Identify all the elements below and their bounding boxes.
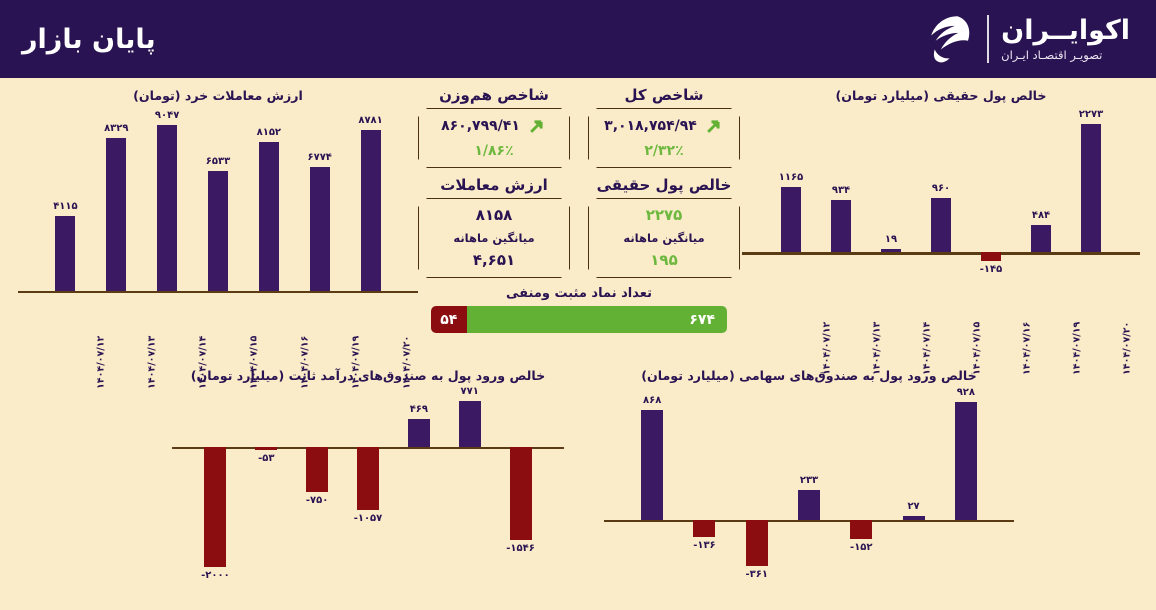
- kpi-value: ۸۱۵۸: [425, 206, 563, 224]
- kpi-heading: شاخص کل: [588, 86, 740, 104]
- chart-bar-value-label: -۱۳۶: [672, 540, 736, 551]
- chart-bar-value-label: ۴۶۹: [387, 404, 451, 415]
- chart-plot-area: ۴۱۱۵۱۴۰۴/۰۷/۱۲۸۳۲۹۱۴۰۴/۰۷/۱۳۹۰۴۷۱۴۰۴/۰۷/…: [18, 117, 418, 291]
- chart-axis-line: [742, 252, 1140, 254]
- chart-x-tick-label: ۱۴۰۴/۰۷/۲۰: [1122, 322, 1133, 375]
- chart-x-tick-label: ۱۴۰۴/۰۷/۱۹: [1072, 322, 1083, 375]
- chart-bar: [259, 142, 279, 291]
- chart-bar-value-label: ۱۹: [859, 234, 923, 245]
- chart-bar-value-label: ۱۱۶۵: [759, 172, 823, 183]
- kpi-average-label: میانگین ماهانه: [425, 231, 563, 245]
- kpi-percent: ۱/۸۶٪: [425, 143, 563, 159]
- chart-bar-value-label: -۱۵۴۶: [489, 543, 553, 554]
- chart-title: ارزش معاملات خرد (تومان): [18, 88, 418, 103]
- chart-bar-value-label: ۴۱۱۵: [33, 201, 97, 212]
- chart-bar: [881, 249, 901, 252]
- chart-net-real-money: خالص پول حقیقی (میلیارد تومان) ۱۱۶۵۱۴۰۴/…: [742, 88, 1140, 316]
- kpi-value: ۲۲۷۵: [595, 206, 733, 224]
- brand-name: اکوایــران: [1001, 16, 1130, 45]
- chart-bar-value-label: -۱۵۲: [829, 542, 893, 553]
- chart-x-tick-label: ۱۴۰۴/۰۷/۱۳: [147, 336, 158, 389]
- chart-bar: [903, 516, 925, 519]
- chart-bar-value-label: ۶۵۳۳: [186, 156, 250, 167]
- chart-title: خالص ورود پول به صندوق‌های سهامی (میلیار…: [604, 368, 1014, 383]
- chart-bar: [255, 447, 277, 450]
- app-header: اکوایــران تصویـر اقتصـاد ایـران پایان ب…: [0, 0, 1156, 78]
- chart-bar-value-label: -۲۰۰۰: [183, 570, 247, 581]
- kpi-box: ۸۱۵۸ میانگین ماهانه ۴,۶۵۱: [418, 198, 570, 278]
- kpi-heading: شاخص هم‌وزن: [418, 86, 570, 104]
- chart-bar-value-label: ۷۷۱: [438, 386, 502, 397]
- chart-bar: [106, 138, 126, 291]
- chart-bar: [408, 419, 430, 447]
- chart-x-tick-label: ۱۴۰۴/۰۷/۱۴: [922, 322, 933, 375]
- arrow-up-icon: [704, 116, 724, 136]
- kpi-heading: خالص پول حقیقی: [588, 176, 740, 194]
- kpi-row-indices: شاخص کل ۳,۰۱۸,۷۵۴/۹۴ ۲/۳۲٪ شاخص هم‌وزن ۸…: [418, 86, 740, 168]
- chart-bar: [204, 447, 226, 567]
- chart-bar: [693, 520, 715, 537]
- kpi-average-label: میانگین ماهانه: [595, 231, 733, 245]
- chart-bar: [781, 187, 801, 253]
- chart-bar: [157, 125, 177, 291]
- chart-bar: [641, 410, 663, 520]
- kpi-box: ۸۶۰,۷۹۹/۴۱ ۱/۸۶٪: [418, 108, 570, 168]
- chart-title: خالص ورود پول به صندوق‌های درآمد ثابت (م…: [172, 368, 564, 383]
- page-title: پایان بازار: [22, 24, 156, 55]
- chart-bar: [746, 520, 768, 566]
- chart-axis-line: [604, 520, 1014, 522]
- kpi-row-money: خالص پول حقیقی ۲۲۷۵ میانگین ماهانه ۱۹۵ ا…: [418, 176, 740, 278]
- kpi-heading: ارزش معاملات: [418, 176, 570, 194]
- arrow-up-icon: [527, 116, 547, 136]
- kpi-value: ۳,۰۱۸,۷۵۴/۹۴: [604, 118, 697, 134]
- kpi-index-weighted: شاخص هم‌وزن ۸۶۰,۷۹۹/۴۱ ۱/۸۶٪: [418, 86, 570, 168]
- kpi-main-row: ۳,۰۱۸,۷۵۴/۹۴: [595, 116, 733, 136]
- chart-bar-value-label: ۲۳۳: [777, 475, 841, 486]
- chart-x-tick-label: ۱۴۰۴/۰۷/۱۲: [822, 322, 833, 375]
- chart-bar: [831, 200, 851, 253]
- chart-bar-value-label: ۴۸۴: [1009, 210, 1073, 221]
- chart-plot-area: ۱۱۶۵۱۴۰۴/۰۷/۱۲۹۳۴۱۴۰۴/۰۷/۱۳۱۹۱۴۰۴/۰۷/۱۴۹…: [742, 117, 1140, 275]
- chart-bar: [361, 130, 381, 291]
- chart-fixed-income-fund-flow: خالص ورود پول به صندوق‌های درآمد ثابت (م…: [172, 368, 564, 608]
- negative-symbols-count: ۵۴: [440, 312, 457, 328]
- symbol-count-title: تعداد نماد مثبت ومنفی: [418, 286, 740, 301]
- chart-bar-value-label: ۲۲۷۳: [1059, 109, 1123, 120]
- chart-bar-value-label: ۸۳۲۹: [84, 123, 148, 134]
- chart-bar-value-label: -۱۰۵۷: [336, 513, 400, 524]
- positive-symbols-segment: ۶۷۴: [467, 306, 727, 333]
- chart-bar: [1031, 225, 1051, 252]
- brand: اکوایــران تصویـر اقتصـاد ایـران: [919, 11, 1130, 67]
- chart-title: خالص پول حقیقی (میلیارد تومان): [742, 88, 1140, 103]
- chart-bar-value-label: ۸۱۵۲: [237, 127, 301, 138]
- brand-text: اکوایــران تصویـر اقتصـاد ایـران: [1001, 16, 1130, 62]
- chart-bar-value-label: ۹۶۰: [909, 183, 973, 194]
- chart-bar: [459, 401, 481, 447]
- kpi-index-total: شاخص کل ۳,۰۱۸,۷۵۴/۹۴ ۲/۳۲٪: [588, 86, 740, 168]
- chart-bar: [55, 216, 75, 291]
- chart-x-tick-label: ۱۴۰۴/۰۷/۱۳: [872, 322, 883, 375]
- symbol-count-bar: ۵۴ ۶۷۴: [431, 306, 727, 333]
- chart-bar-value-label: ۹۲۸: [934, 387, 998, 398]
- chart-bar-value-label: -۳۶۱: [725, 569, 789, 580]
- chart-bar: [931, 198, 951, 252]
- chart-bar: [306, 447, 328, 492]
- chart-bar: [798, 490, 820, 520]
- brand-subtitle: تصویـر اقتصـاد ایـران: [1001, 49, 1102, 61]
- chart-bar-value-label: -۵۳: [234, 453, 298, 464]
- chart-bar: [981, 252, 1001, 260]
- chart-bar: [357, 447, 379, 510]
- kpi-trade-value: ارزش معاملات ۸۱۵۸ میانگین ماهانه ۴,۶۵۱: [418, 176, 570, 278]
- negative-symbols-segment: ۵۴: [431, 306, 467, 333]
- chart-bar-value-label: ۶۷۷۴: [288, 152, 352, 163]
- positive-symbols-count: ۶۷۴: [689, 312, 715, 328]
- chart-axis-line: [18, 291, 418, 293]
- brand-divider: [987, 15, 989, 63]
- kpi-box: ۳,۰۱۸,۷۵۴/۹۴ ۲/۳۲٪: [588, 108, 740, 168]
- chart-bar: [510, 447, 532, 540]
- kpi-box: ۲۲۷۵ میانگین ماهانه ۱۹۵: [588, 198, 740, 278]
- chart-plot-area: ۸۶۸۱۴۰۴/۰۷/۱۲-۱۳۶۱۴۰۴/۰۷/۱۳-۳۶۱۱۴۰۴/۰۷/۱…: [604, 393, 1014, 573]
- kpi-real-money: خالص پول حقیقی ۲۲۷۵ میانگین ماهانه ۱۹۵: [588, 176, 740, 278]
- chart-bar-value-label: ۸۶۸: [620, 395, 684, 406]
- chart-bar: [310, 167, 330, 291]
- chart-bar-value-label: -۱۴۵: [959, 264, 1023, 275]
- chart-equity-fund-flow: خالص ورود پول به صندوق‌های سهامی (میلیار…: [604, 368, 1014, 608]
- chart-bar-value-label: -۷۵۰: [285, 495, 349, 506]
- chart-plot-area: -۲۰۰۰۱۴۰۴/۰۷/۱۲-۵۳۱۴۰۴/۰۷/۱۳-۷۵۰۱۴۰۴/۰۷/…: [172, 393, 564, 573]
- kpi-zone: شاخص کل ۳,۰۱۸,۷۵۴/۹۴ ۲/۳۲٪ شاخص هم‌وزن ۸…: [418, 86, 740, 333]
- chart-bar-value-label: ۹۰۴۷: [135, 110, 199, 121]
- chart-bar: [955, 402, 977, 520]
- chart-x-tick-label: ۱۴۰۴/۰۷/۱۲: [96, 336, 107, 389]
- kpi-main-row: ۸۶۰,۷۹۹/۴۱: [425, 116, 563, 136]
- chart-x-tick-label: ۱۴۰۴/۰۷/۱۵: [972, 322, 983, 375]
- chart-bar: [850, 520, 872, 539]
- kpi-value: ۸۶۰,۷۹۹/۴۱: [441, 118, 520, 134]
- chart-bar: [1081, 124, 1101, 252]
- chart-bar: [208, 171, 228, 291]
- kpi-average-value: ۱۹۵: [595, 251, 733, 269]
- chart-bar-value-label: ۸۷۸۱: [339, 115, 403, 126]
- eco-iran-logo-icon: [919, 11, 975, 67]
- kpi-percent: ۲/۳۲٪: [595, 143, 733, 159]
- chart-x-tick-label: ۱۴۰۴/۰۷/۱۶: [1022, 322, 1033, 375]
- kpi-average-value: ۴,۶۵۱: [425, 251, 563, 269]
- chart-bar-value-label: ۹۳۴: [809, 185, 873, 196]
- chart-bar-value-label: ۲۷: [882, 501, 946, 512]
- chart-retail-trade-value: ارزش معاملات خرد (تومان) ۴۱۱۵۱۴۰۴/۰۷/۱۲۸…: [18, 88, 418, 316]
